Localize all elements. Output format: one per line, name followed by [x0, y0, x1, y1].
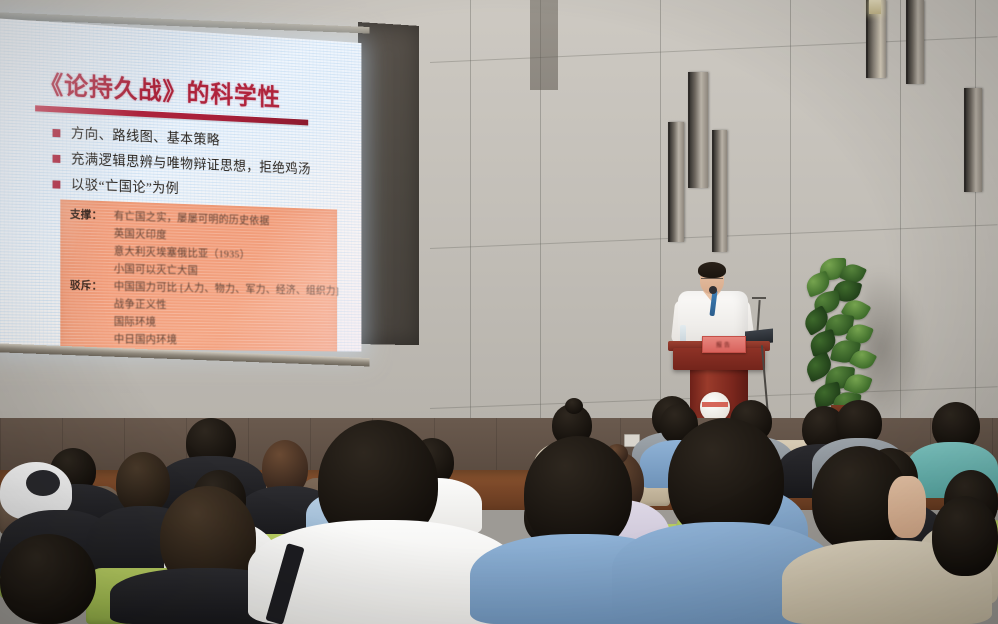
slide-bullet-label: 方向、路线图、基本策略: [71, 123, 220, 150]
box-row-value: 中国国力可比 [人力、物力、军力、经济、组织力]: [114, 278, 339, 298]
slide-bullet-label: 充满逻辑思辨与唯物辩证思想，拒绝鸡汤: [71, 149, 311, 179]
wall-seam: [660, 0, 661, 420]
mic-stand-arm: [752, 297, 766, 299]
wall-niche: [712, 130, 727, 252]
box-row-value: 战争正义性: [114, 295, 167, 312]
box-row-key: [70, 312, 114, 328]
slide-bullet-label: 以驳“亡国论”为例: [71, 174, 179, 198]
wall-niche: [688, 72, 708, 188]
wall-niche: [668, 122, 684, 242]
wall-niche: [906, 0, 924, 84]
box-row: 中日国内环境: [70, 330, 330, 348]
microphone-capsule: [709, 286, 717, 294]
speaker-glasses-icon: [701, 278, 723, 284]
bullet-square-icon: [53, 129, 61, 137]
potted-plant: [800, 258, 890, 428]
projection-screen: 《论持久战》的科学性 方向、路线图、基本策略 充满逻辑思辨与唯物辩证思想，拒绝鸡…: [0, 18, 361, 352]
wall-seam: [975, 0, 976, 420]
audience-head: [0, 534, 96, 624]
wall-niche: [964, 88, 982, 192]
screen-surface: 《论持久战》的科学性 方向、路线图、基本策略 充满逻辑思辨与唯物辩证思想，拒绝鸡…: [0, 18, 361, 352]
box-row-key: [70, 330, 114, 346]
speaker-hair: [698, 262, 726, 278]
wall-seam: [470, 0, 471, 420]
name-card-text: 报告: [703, 337, 745, 352]
podium-emblem-band: [702, 402, 728, 407]
box-row: 国际环境: [70, 312, 330, 331]
box-row-value: 意大利灭埃塞俄比亚（1935）: [114, 243, 250, 262]
bullet-square-icon: [53, 155, 61, 163]
box-row-value: 小国可以灭亡大国: [114, 260, 198, 278]
cap-logo-icon: [26, 470, 60, 496]
box-row-key: 支撑：: [70, 206, 114, 223]
slide-highlight-box: 支撑： 有亡国之实，屡屡可明的历史依据 英国灭印度 意大利灭埃塞俄比亚（1935…: [60, 199, 337, 351]
box-row-key: [70, 295, 114, 312]
niche-light-icon: [869, 0, 881, 14]
speaker-name-card: 报告: [702, 336, 746, 353]
audience-face: [888, 476, 926, 538]
audience-hair-bun: [565, 398, 583, 414]
wall-pillar: [530, 0, 558, 90]
box-row-key: [70, 224, 114, 241]
box-row-key: [70, 259, 114, 276]
wall-seam: [790, 0, 791, 420]
audience-head: [932, 496, 998, 576]
box-row-value: 国际环境: [114, 313, 156, 329]
box-row-key: [70, 241, 114, 258]
box-row-value: 英国灭印度: [114, 225, 167, 242]
presentation-slide: 《论持久战》的科学性 方向、路线图、基本策略 充满逻辑思辨与唯物辩证思想，拒绝鸡…: [0, 18, 361, 352]
box-row: 战争正义性: [70, 295, 330, 315]
box-row-value: 中日国内环境: [114, 331, 177, 347]
lecture-hall-photo: 《论持久战》的科学性 方向、路线图、基本策略 充满逻辑思辨与唯物辩证思想，拒绝鸡…: [0, 0, 998, 624]
dark-wall-pillar: [358, 22, 419, 345]
audience-head: [116, 452, 170, 514]
bullet-square-icon: [53, 180, 61, 188]
box-row-key: 驳斥：: [70, 277, 114, 294]
